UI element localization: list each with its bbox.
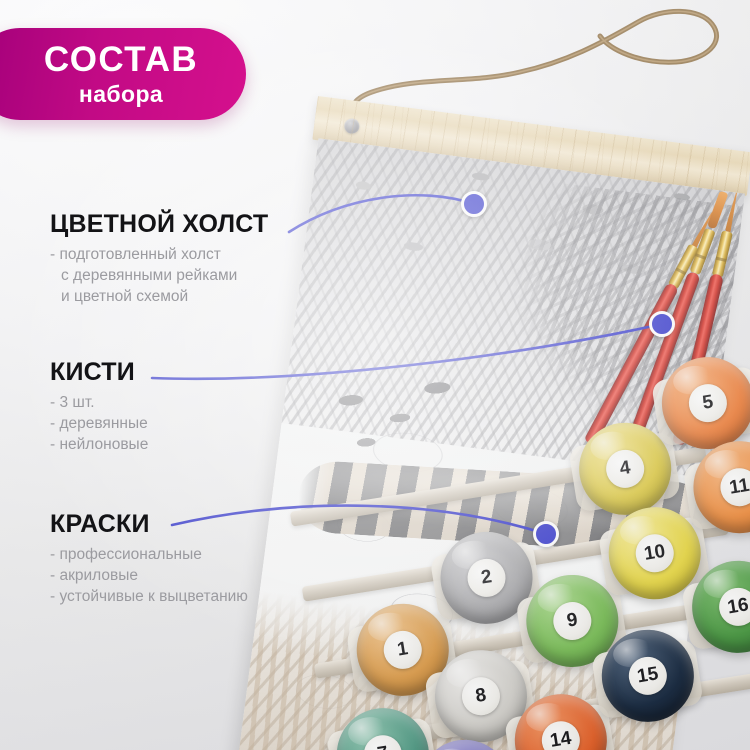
callout-line: с деревянными рейками bbox=[50, 265, 268, 286]
callout-paints: КРАСКИ - профессиональные - акриловые - … bbox=[50, 512, 248, 607]
rail-eyelet bbox=[343, 118, 360, 135]
callout-line: - деревянные bbox=[50, 413, 148, 434]
callout-line: - нейлоновые bbox=[50, 434, 148, 455]
callout-line: - профессиональные bbox=[50, 544, 248, 565]
callout-title: КРАСКИ bbox=[50, 512, 248, 537]
callout-line: - устойчивые к выцветанию bbox=[50, 586, 248, 607]
callout-line: - 3 шт. bbox=[50, 392, 148, 413]
callout-line: и цветной схемой bbox=[50, 286, 268, 307]
callout-canvas: ЦВЕТНОЙ ХОЛСТ - подготовленный холст с д… bbox=[50, 212, 268, 307]
paint-pot: 7 bbox=[330, 702, 435, 750]
composition-badge: СОСТАВ набора bbox=[0, 28, 246, 120]
dot-canvas bbox=[461, 191, 487, 217]
callout-brushes: КИСТИ - 3 шт. - деревянные - нейлоновые bbox=[50, 360, 148, 455]
badge-title: СОСТАВ bbox=[44, 42, 198, 77]
callout-title: ЦВЕТНОЙ ХОЛСТ bbox=[50, 212, 268, 237]
dot-brushes bbox=[649, 311, 675, 337]
callout-line: - акриловые bbox=[50, 565, 248, 586]
callout-title: КИСТИ bbox=[50, 360, 148, 385]
badge-subtitle: набора bbox=[79, 83, 163, 106]
callout-line: - подготовленный холст bbox=[50, 244, 268, 265]
infographic-canvas: 1 2 4 5 7 bbox=[0, 0, 750, 750]
dot-paints bbox=[533, 521, 559, 547]
